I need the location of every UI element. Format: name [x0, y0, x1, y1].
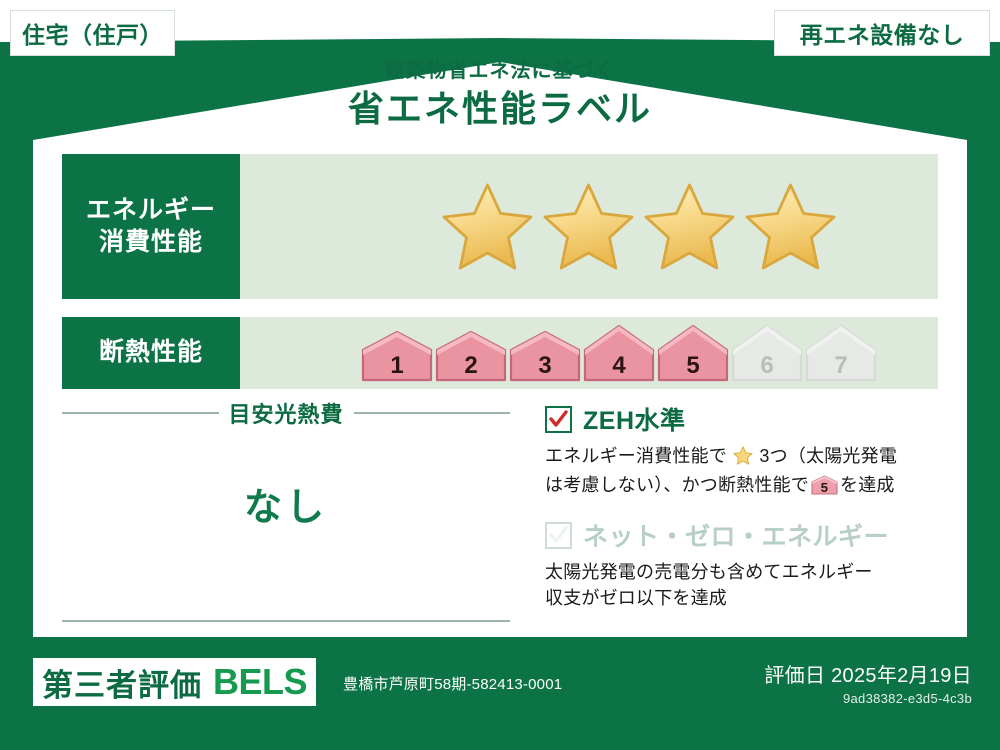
claim-zeh-body-part2: 3つ（太陽光発電	[759, 446, 897, 466]
category-chip-renewable-label: 再エネ設備なし	[800, 16, 965, 50]
evaluation-date-value: 2025年2月19日	[831, 665, 972, 687]
insulation-grade-4-number: 4	[583, 354, 655, 378]
insulation-grade-2: 2	[435, 330, 507, 382]
energy-performance-label: エネルギー 消費性能	[62, 154, 240, 299]
checkbox-checked-icon	[545, 406, 572, 433]
insulation-grade-6: 6	[731, 324, 803, 382]
claim-zeh-body-part1: エネルギー消費性能で	[545, 446, 727, 466]
insulation-grade-2-number: 2	[435, 354, 507, 378]
label-card: エネルギー 消費性能 断熱性能 1234567 目安光熱費	[33, 140, 967, 637]
insulation-grade-1-number: 1	[361, 354, 433, 378]
page-title: 建築物省エネ法に基づく 省エネ性能ラベル	[0, 60, 1000, 131]
bels-energy-label: 住宅（住戸） 再エネ設備なし 建築物省エネ法に基づく 省エネ性能ラベル エネルギ…	[0, 0, 1000, 750]
claim-zeh: ZEH水準 エネルギー消費性能で 3つ（太陽光発電 は考慮しない）、かつ断熱性能…	[545, 402, 945, 498]
lower-section: 目安光熱費 なし ZEH水準	[33, 402, 967, 637]
energy-performance-label-line2: 消費性能	[99, 227, 203, 258]
insulation-grade-3-number: 3	[509, 354, 581, 378]
claim-net-zero-energy-title: ネット・ゼロ・エネルギー	[583, 517, 889, 553]
star-icon	[642, 181, 737, 272]
insulation-performance-row: 断熱性能 1234567	[62, 317, 938, 389]
title-subtitle: 建築物省エネ法に基づく	[0, 60, 1000, 82]
claim-zeh-body: エネルギー消費性能で 3つ（太陽光発電 は考慮しない）、かつ断熱性能で 5 を	[545, 443, 945, 498]
claim-net-zero-energy-body: 太陽光発電の売電分も含めてエネルギー 収支がゼロ以下を達成	[545, 559, 945, 611]
energy-performance-row: エネルギー 消費性能	[62, 154, 938, 299]
divider-left	[62, 412, 219, 414]
claim-net-zero-energy-header: ネット・ゼロ・エネルギー	[545, 518, 945, 552]
category-chip-dwelling: 住宅（住戸）	[10, 10, 175, 56]
bels-logo-en: BELS	[213, 661, 307, 703]
insulation-grade-4: 4	[583, 324, 655, 382]
insulation-grade-6-number: 6	[731, 354, 803, 378]
category-chip-renewable: 再エネ設備なし	[774, 10, 990, 56]
insulation-grade-5-number: 5	[657, 354, 729, 378]
checkbox-unchecked-icon	[545, 522, 572, 549]
insulation-grade-1: 1	[361, 330, 433, 382]
utility-cost-heading: 目安光熱費	[62, 402, 510, 424]
claim-zeh-title: ZEH水準	[583, 401, 686, 437]
utility-cost-value: なし	[62, 476, 510, 531]
evaluation-date-label: 評価日	[764, 665, 825, 687]
property-address: 豊橋市芦原町58期-582413-0001	[343, 673, 562, 694]
divider-right	[354, 412, 511, 414]
insulation-performance-value: 1234567	[240, 317, 938, 389]
insulation-grade-5: 5	[657, 324, 729, 382]
bels-logo-jp: 第三者評価	[42, 660, 202, 705]
utility-cost-heading-label: 目安光熱費	[229, 397, 344, 429]
house-grade-icon: 5	[811, 475, 838, 495]
title-main: 省エネ性能ラベル	[0, 86, 1000, 131]
evaluation-info: 評価日 2025年2月19日 9ad38382-e3d5-4c3b	[764, 659, 972, 706]
insulation-grade-3: 3	[509, 330, 581, 382]
insulation-grade-7-number: 7	[805, 354, 877, 378]
insulation-grade-7: 7	[805, 324, 877, 382]
claim-net-zero-energy-body-line1: 太陽光発電の売電分も含めてエネルギー	[545, 562, 873, 582]
claim-zeh-body-part3: は考慮しない）、かつ断熱性能で	[545, 475, 809, 495]
bels-logo: 第三者評価 BELS	[33, 658, 316, 706]
claim-zeh-header: ZEH水準	[545, 402, 945, 436]
divider-bottom	[62, 620, 510, 622]
evaluation-id: 9ad38382-e3d5-4c3b	[764, 691, 972, 706]
house-grade-icon-number: 5	[811, 481, 838, 494]
star-rating	[440, 181, 838, 272]
claim-net-zero-energy: ネット・ゼロ・エネルギー 太陽光発電の売電分も含めてエネルギー 収支がゼロ以下を…	[545, 518, 945, 611]
claim-zeh-body-part4: を達成	[840, 475, 895, 495]
utility-cost-block: 目安光熱費 なし	[62, 402, 510, 622]
footer: 第三者評価 BELS 豊橋市芦原町58期-582413-0001 評価日 202…	[0, 637, 1000, 750]
claims-block: ZEH水準 エネルギー消費性能で 3つ（太陽光発電 は考慮しない）、かつ断熱性能…	[545, 402, 945, 611]
insulation-performance-label: 断熱性能	[62, 317, 240, 389]
energy-performance-label-line1: エネルギー	[86, 195, 216, 226]
category-chip-dwelling-label: 住宅（住戸）	[22, 16, 163, 50]
star-icon	[541, 181, 636, 272]
energy-performance-value	[240, 154, 938, 299]
star-icon	[743, 181, 838, 272]
evaluation-date: 評価日 2025年2月19日	[764, 659, 972, 688]
star-icon	[728, 449, 758, 469]
claim-net-zero-energy-body-line2: 収支がゼロ以下を達成	[545, 588, 727, 608]
star-icon	[440, 181, 535, 272]
insulation-grade-scale: 1234567	[361, 324, 877, 382]
insulation-performance-label-line1: 断熱性能	[99, 337, 203, 368]
